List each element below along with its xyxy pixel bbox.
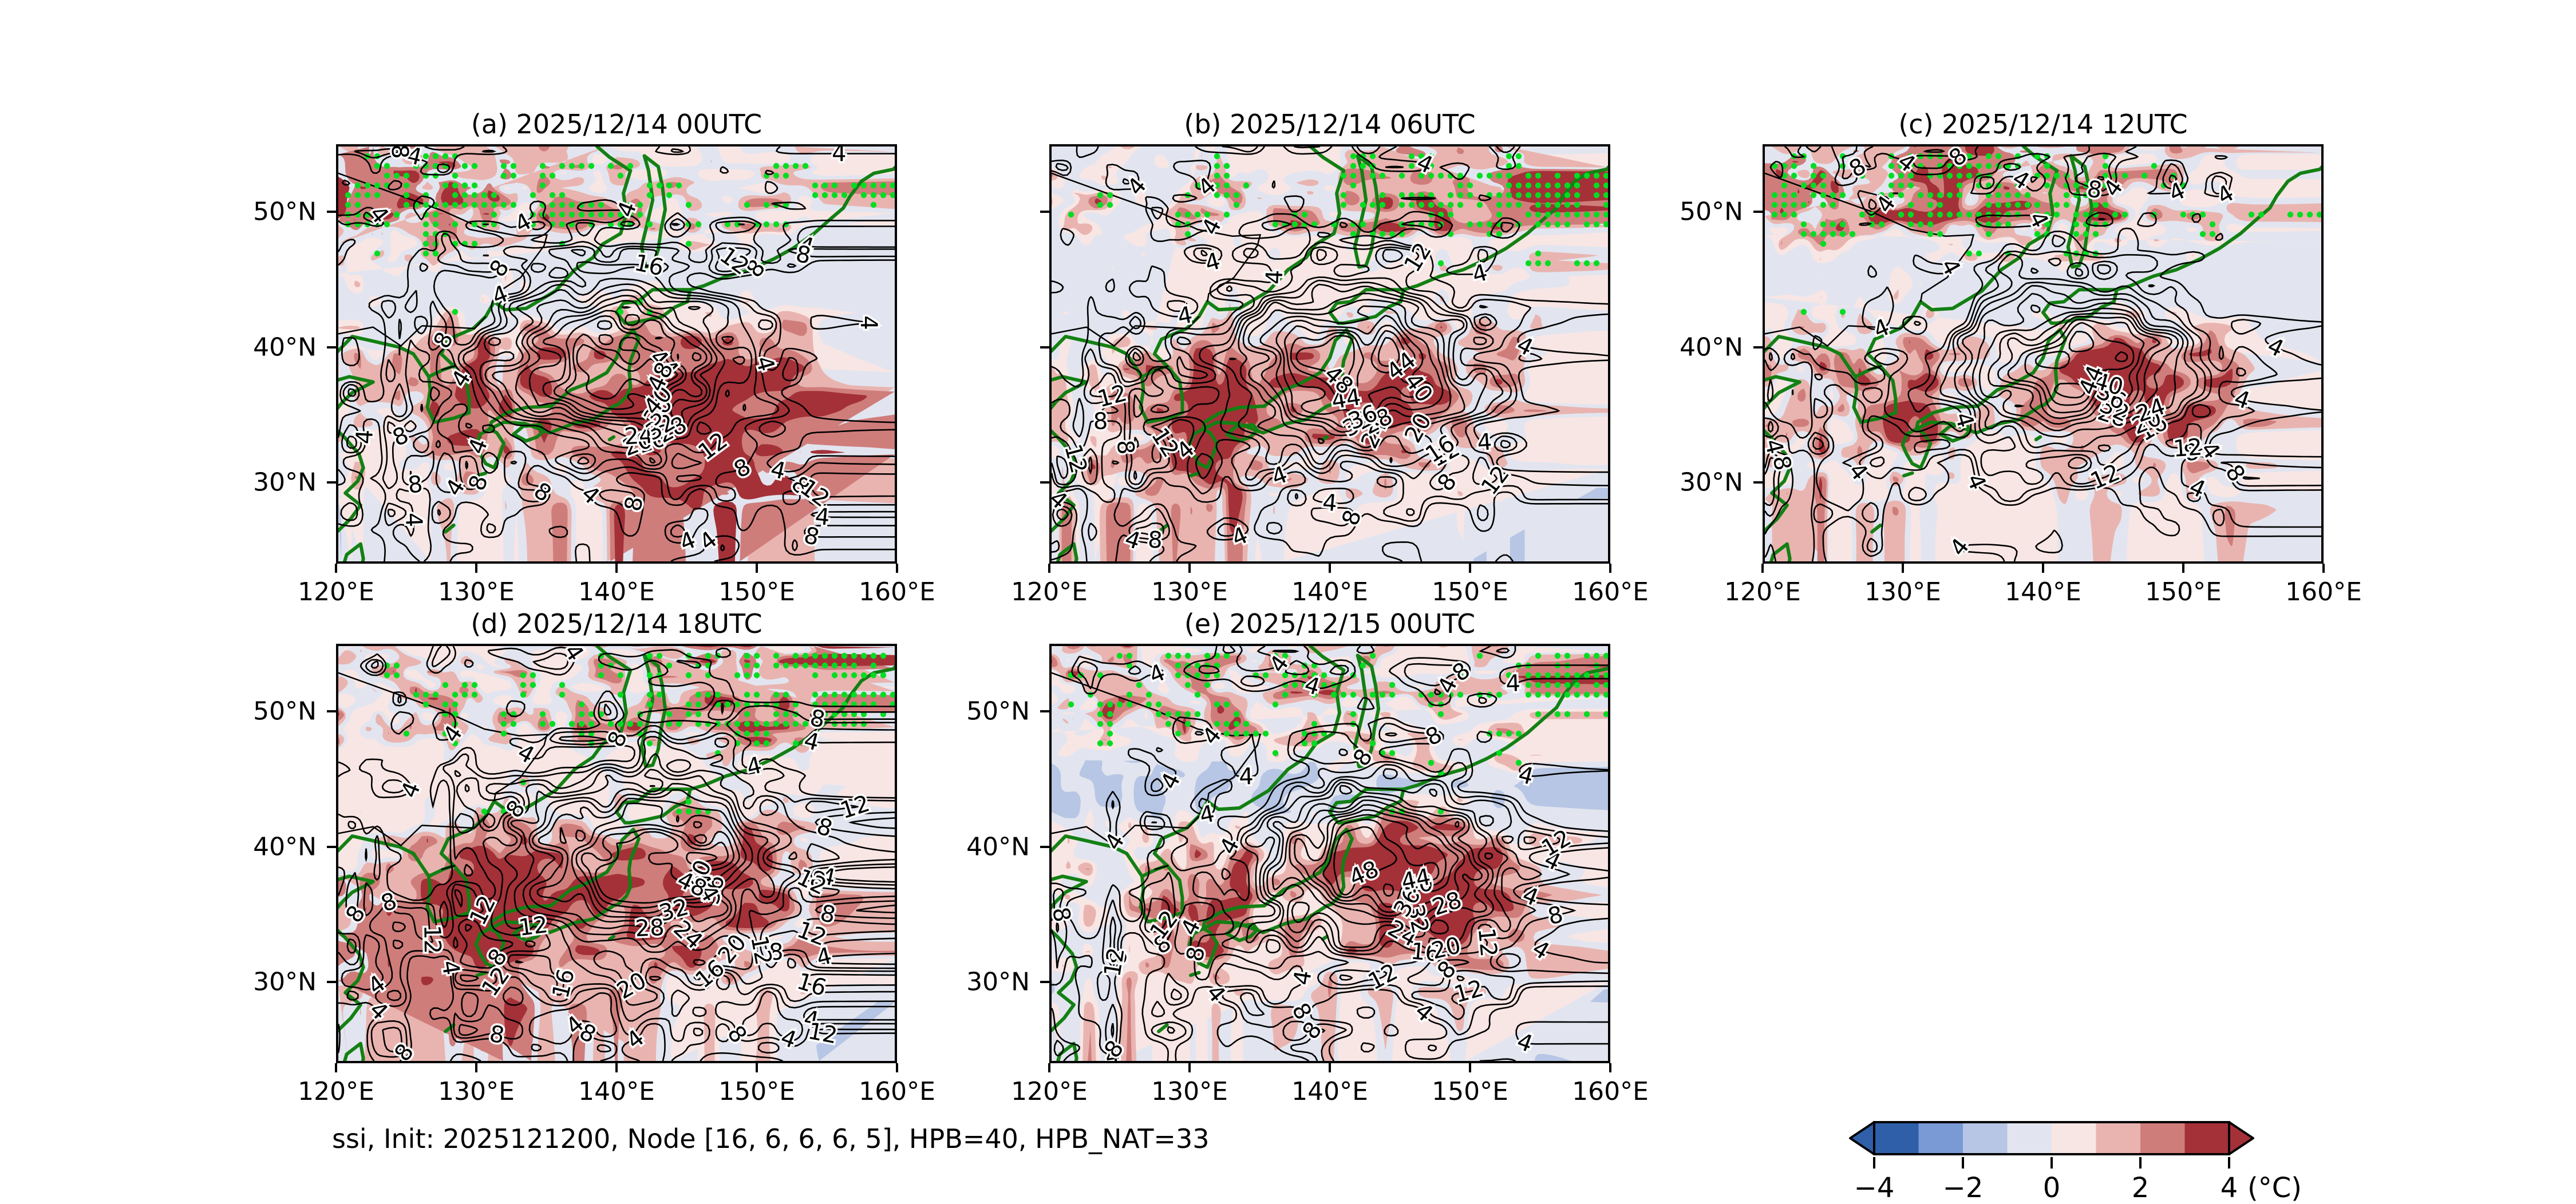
contour-label: 4 [855, 315, 882, 330]
colorbar: −4−2024 (°C) [1849, 1120, 2252, 1201]
contour-label: 12 [1099, 946, 1129, 979]
contour-label: 8 [1093, 408, 1108, 435]
x-tickmark [896, 564, 898, 573]
panel-title-a: (a) 2025/12/14 00UTC [336, 109, 897, 140]
map-panel-b: (b) 2025/12/14 06UTC44444444444444448888… [1049, 144, 1610, 564]
map-plot-area-a[interactable]: 4444444444444444444888888888888812121216… [336, 144, 897, 564]
contour-label: 4 [1506, 670, 1521, 697]
x-tickmark [1188, 1063, 1191, 1072]
x-tick-label: 140°E [578, 1077, 655, 1106]
x-tick-label: 140°E [1291, 1077, 1368, 1106]
contour-8 [1385, 167, 1403, 168]
x-tick-label: 120°E [1011, 1077, 1088, 1106]
y-tickmark [1040, 846, 1049, 848]
colorbar-swatch-2 [1963, 1122, 2008, 1154]
x-tickmark [615, 564, 618, 573]
x-tickmark [335, 1063, 337, 1072]
contour-20 [1230, 358, 1235, 359]
contour-4 [1893, 193, 1898, 194]
y-tickmark [327, 211, 336, 213]
colorbar-tick-label: 0 [2043, 1172, 2061, 1204]
contour-4 [366, 849, 367, 860]
x-tick-label: 160°E [1572, 577, 1649, 607]
x-tick-label: 140°E [578, 577, 655, 607]
contour-32 [678, 354, 678, 358]
contour-8 [2099, 219, 2104, 220]
contour-8 [483, 150, 495, 152]
x-tick-label: 130°E [1151, 577, 1228, 607]
contour-label: 8 [386, 146, 413, 159]
contour-label: 8 [406, 471, 424, 499]
colorbar-swatch-6 [2140, 1122, 2185, 1154]
colorbar-swatch-3 [2008, 1122, 2052, 1154]
panel-title-c: (c) 2025/12/14 12UTC [1763, 109, 2324, 140]
map-plot-area-b[interactable]: 4444444444444444888881212121212121620242… [1049, 144, 1610, 564]
x-tick-label: 150°E [718, 1077, 795, 1106]
colorbar-extend-max [2229, 1122, 2253, 1154]
map-plot-area-e[interactable]: 4444444444444444444448888888888881212121… [1049, 644, 1610, 1063]
x-tick-label: 130°E [1864, 577, 1941, 607]
colorbar-swatch-7 [2185, 1122, 2230, 1154]
x-tick-label: 130°E [438, 1077, 515, 1106]
panel-title-d: (d) 2025/12/14 18UTC [336, 608, 897, 639]
colorbar-tickmark [2050, 1157, 2053, 1169]
x-tickmark [475, 1063, 477, 1072]
x-tick-label: 120°E [1724, 577, 1801, 607]
y-tickmark [327, 346, 336, 348]
y-tickmark [1753, 211, 1763, 213]
contour-12 [738, 224, 745, 225]
colorbar-tick-label: −2 [1943, 1172, 1984, 1204]
contour-label: 4 [1321, 489, 1338, 517]
x-tick-label: 160°E [859, 1077, 935, 1106]
colorbar-gradient [1849, 1120, 2254, 1158]
figure-caption: ssi, Init: 2025121200, Node [16, 6, 6, 6… [332, 1123, 1210, 1154]
map-plot-area-c[interactable]: 4444444444444444448888881212162024283236… [1763, 144, 2324, 564]
x-tickmark [1609, 1063, 1611, 1072]
y-tick-label: 50°N [966, 697, 1030, 726]
contour-16 [650, 786, 655, 786]
contour-label: 12 [517, 912, 549, 941]
x-tick-label: 120°E [298, 577, 374, 607]
contour-label: 12 [2172, 434, 2203, 462]
y-tickmark [327, 481, 336, 484]
y-tick-label: 50°N [1680, 197, 1743, 227]
contour-label: 12 [418, 925, 445, 955]
contour-12 [722, 703, 723, 713]
colorbar-tick-label: 2 [2132, 1172, 2150, 1204]
x-tick-label: 160°E [2285, 577, 2362, 607]
x-tick-label: 120°E [298, 1077, 374, 1106]
colorbar-swatch-1 [1919, 1122, 1963, 1154]
contour-4 [483, 255, 489, 256]
x-tickmark [1902, 564, 1904, 573]
y-tickmark [327, 981, 336, 983]
x-tick-label: 140°E [1291, 577, 1368, 607]
contour-36 [622, 307, 629, 308]
contour-12 [1152, 822, 1157, 823]
x-tickmark [2322, 564, 2325, 573]
contour-8 [421, 404, 422, 411]
contour-8 [1294, 146, 1320, 148]
x-tickmark [1329, 564, 1331, 573]
x-tickmark [756, 1063, 758, 1072]
contour-label: 4 [1239, 763, 1254, 790]
x-tickmark [1609, 564, 1611, 573]
x-tickmark [1761, 564, 1764, 573]
y-tick-label: 30°N [253, 468, 317, 497]
colorbar-swatch-0 [1874, 1122, 1919, 1154]
x-tick-label: 140°E [2005, 577, 2081, 607]
x-tickmark [2042, 564, 2044, 573]
x-tickmark [1469, 1063, 1471, 1072]
y-tickmark [327, 710, 336, 712]
colorbar-tickmark [2139, 1157, 2142, 1169]
x-tickmark [2182, 564, 2184, 573]
y-tickmark [1040, 346, 1049, 348]
x-tickmark [1329, 1063, 1331, 1072]
y-tick-label: 40°N [966, 832, 1030, 861]
contour-20 [1390, 457, 1392, 462]
contour-8 [1274, 651, 1297, 652]
contour-label: 4 [1476, 429, 1493, 457]
y-tick-label: 40°N [253, 832, 317, 861]
contour-12 [672, 224, 678, 225]
contour-32 [2015, 405, 2022, 406]
map-panel-e: (e) 2025/12/15 00UTC44444444444444444444… [1049, 644, 1610, 1063]
contour-label: 4 [400, 512, 427, 528]
map-panel-a: (a) 2025/12/14 00UTC44444444444444444448… [336, 144, 897, 564]
colorbar-swatches [1849, 1120, 2254, 1156]
y-tick-label: 30°N [1680, 468, 1743, 497]
x-tickmark [1048, 564, 1050, 573]
map-plot-area-d[interactable]: 4444444444444448888888888888812121212121… [336, 644, 897, 1063]
contour-8 [1112, 801, 1114, 808]
x-tick-label: 130°E [1151, 1077, 1228, 1106]
x-tickmark [756, 564, 758, 573]
y-tickmark [1040, 481, 1049, 484]
y-tickmark [1753, 481, 1763, 484]
contour-label: 8 [1112, 439, 1139, 456]
colorbar-swatch-4 [2052, 1122, 2096, 1154]
y-tickmark [1040, 710, 1049, 712]
x-tick-label: 130°E [438, 577, 515, 607]
contour-4 [2149, 285, 2154, 287]
y-tick-label: 30°N [966, 968, 1030, 997]
x-tick-label: 120°E [1011, 577, 1088, 607]
contour-label: 12 [806, 1018, 839, 1049]
figure-canvas: (a) 2025/12/14 00UTC44444444444444444448… [0, 0, 2576, 1202]
x-tick-label: 150°E [1432, 577, 1508, 607]
contour-label: 4 [351, 429, 378, 445]
y-tickmark [327, 846, 336, 848]
y-tick-label: 40°N [1680, 332, 1743, 362]
y-tick-label: 50°N [253, 197, 317, 227]
x-tickmark [1048, 1063, 1050, 1072]
y-tick-label: 30°N [253, 968, 317, 997]
colorbar-tickmark [1962, 1157, 1964, 1169]
x-tickmark [475, 564, 477, 573]
y-tick-label: 50°N [253, 697, 317, 726]
contour-label: 4 [832, 146, 846, 167]
panel-title-e: (e) 2025/12/15 00UTC [1049, 608, 1610, 639]
panel-title-b: (b) 2025/12/14 06UTC [1049, 109, 1610, 140]
contour-label: 12 [1473, 926, 1502, 958]
x-tickmark [335, 564, 337, 573]
contour-label: 28 [635, 914, 665, 942]
y-tick-label: 40°N [253, 332, 317, 362]
colorbar-tickmark [2228, 1157, 2230, 1169]
colorbar-tick-label: −4 [1854, 1172, 1895, 1204]
colorbar-unit-label: (°C) [2247, 1172, 2302, 1204]
y-tickmark [1753, 346, 1763, 348]
x-tick-label: 150°E [718, 577, 795, 607]
colorbar-extend-min [1850, 1122, 1874, 1154]
contour-4 [1792, 390, 1793, 395]
y-tickmark [1040, 981, 1049, 983]
colorbar-swatch-5 [2096, 1122, 2141, 1154]
x-tickmark [896, 1063, 898, 1072]
contour-36 [655, 337, 662, 339]
x-tick-label: 150°E [1432, 1077, 1508, 1106]
map-panel-c: (c) 2025/12/14 12UTC44444444444444444488… [1763, 144, 2324, 564]
x-tick-label: 160°E [859, 577, 935, 607]
contour-label: 4 [1261, 270, 1288, 286]
x-tick-label: 160°E [1572, 1077, 1649, 1106]
y-tickmark [1040, 211, 1049, 213]
contour-label: 12 [745, 933, 777, 967]
x-tick-label: 150°E [2145, 577, 2222, 607]
contour-label: 8 [1147, 526, 1163, 553]
x-tickmark [615, 1063, 618, 1072]
x-tickmark [1188, 564, 1191, 573]
x-tickmark [1469, 564, 1471, 573]
colorbar-tick-label: 4 [2221, 1172, 2238, 1204]
map-panel-d: (d) 2025/12/14 18UTC44444444444444488888… [336, 644, 897, 1063]
colorbar-tickmark [1873, 1157, 1875, 1169]
